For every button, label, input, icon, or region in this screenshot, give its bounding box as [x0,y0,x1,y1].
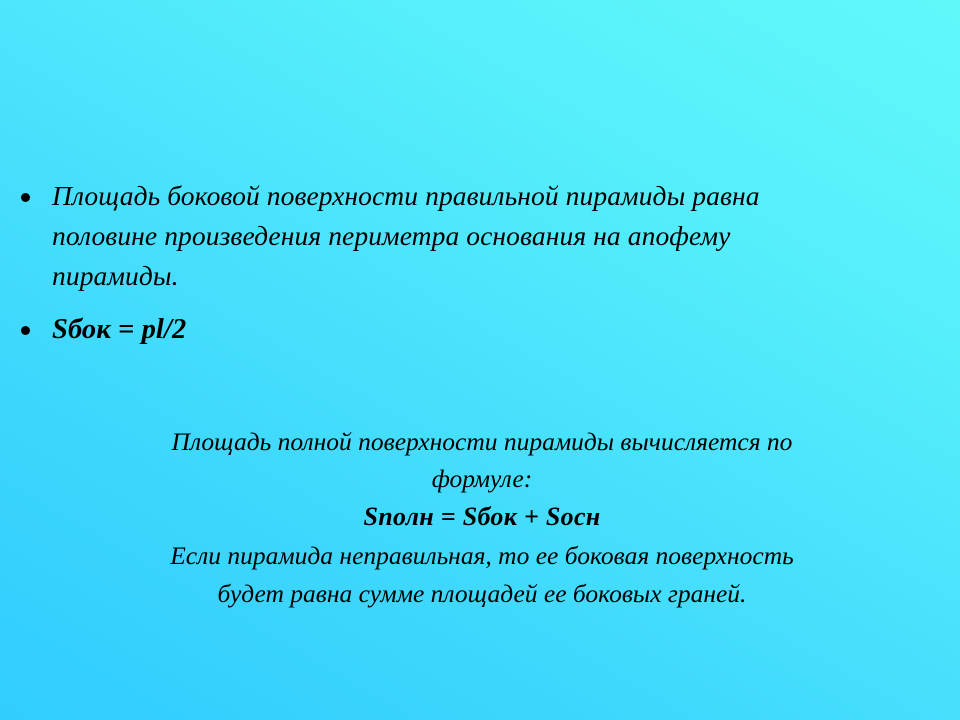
note-formula-total-surface: Sполн = Sбок + Sосн [52,497,912,537]
note-line-4: Если пирамида неправильная, то ее бокова… [52,537,912,575]
bullet-marker-icon [21,326,30,335]
list-item: Площадь боковой поверхности правильной п… [12,176,832,296]
note-line-1: Площадь полной поверхности пирамиды вычи… [52,423,912,460]
note-paragraph: Площадь полной поверхности пирамиды вычи… [52,423,912,613]
bullet-text-lateral-surface-rule: Площадь боковой поверхности правильной п… [52,180,760,291]
list-item: Sбок = pl/2 [12,310,832,350]
bullet-marker-icon [21,193,30,202]
note-line-5: будет равна сумме площадей ее боковых гр… [52,575,912,613]
bullet-list: Площадь боковой поверхности правильной п… [12,176,832,356]
note-line-2: формуле: [52,460,912,497]
slide-canvas: Площадь боковой поверхности правильной п… [0,0,960,720]
bullet-text-lateral-surface-formula: Sбок = pl/2 [52,314,186,345]
